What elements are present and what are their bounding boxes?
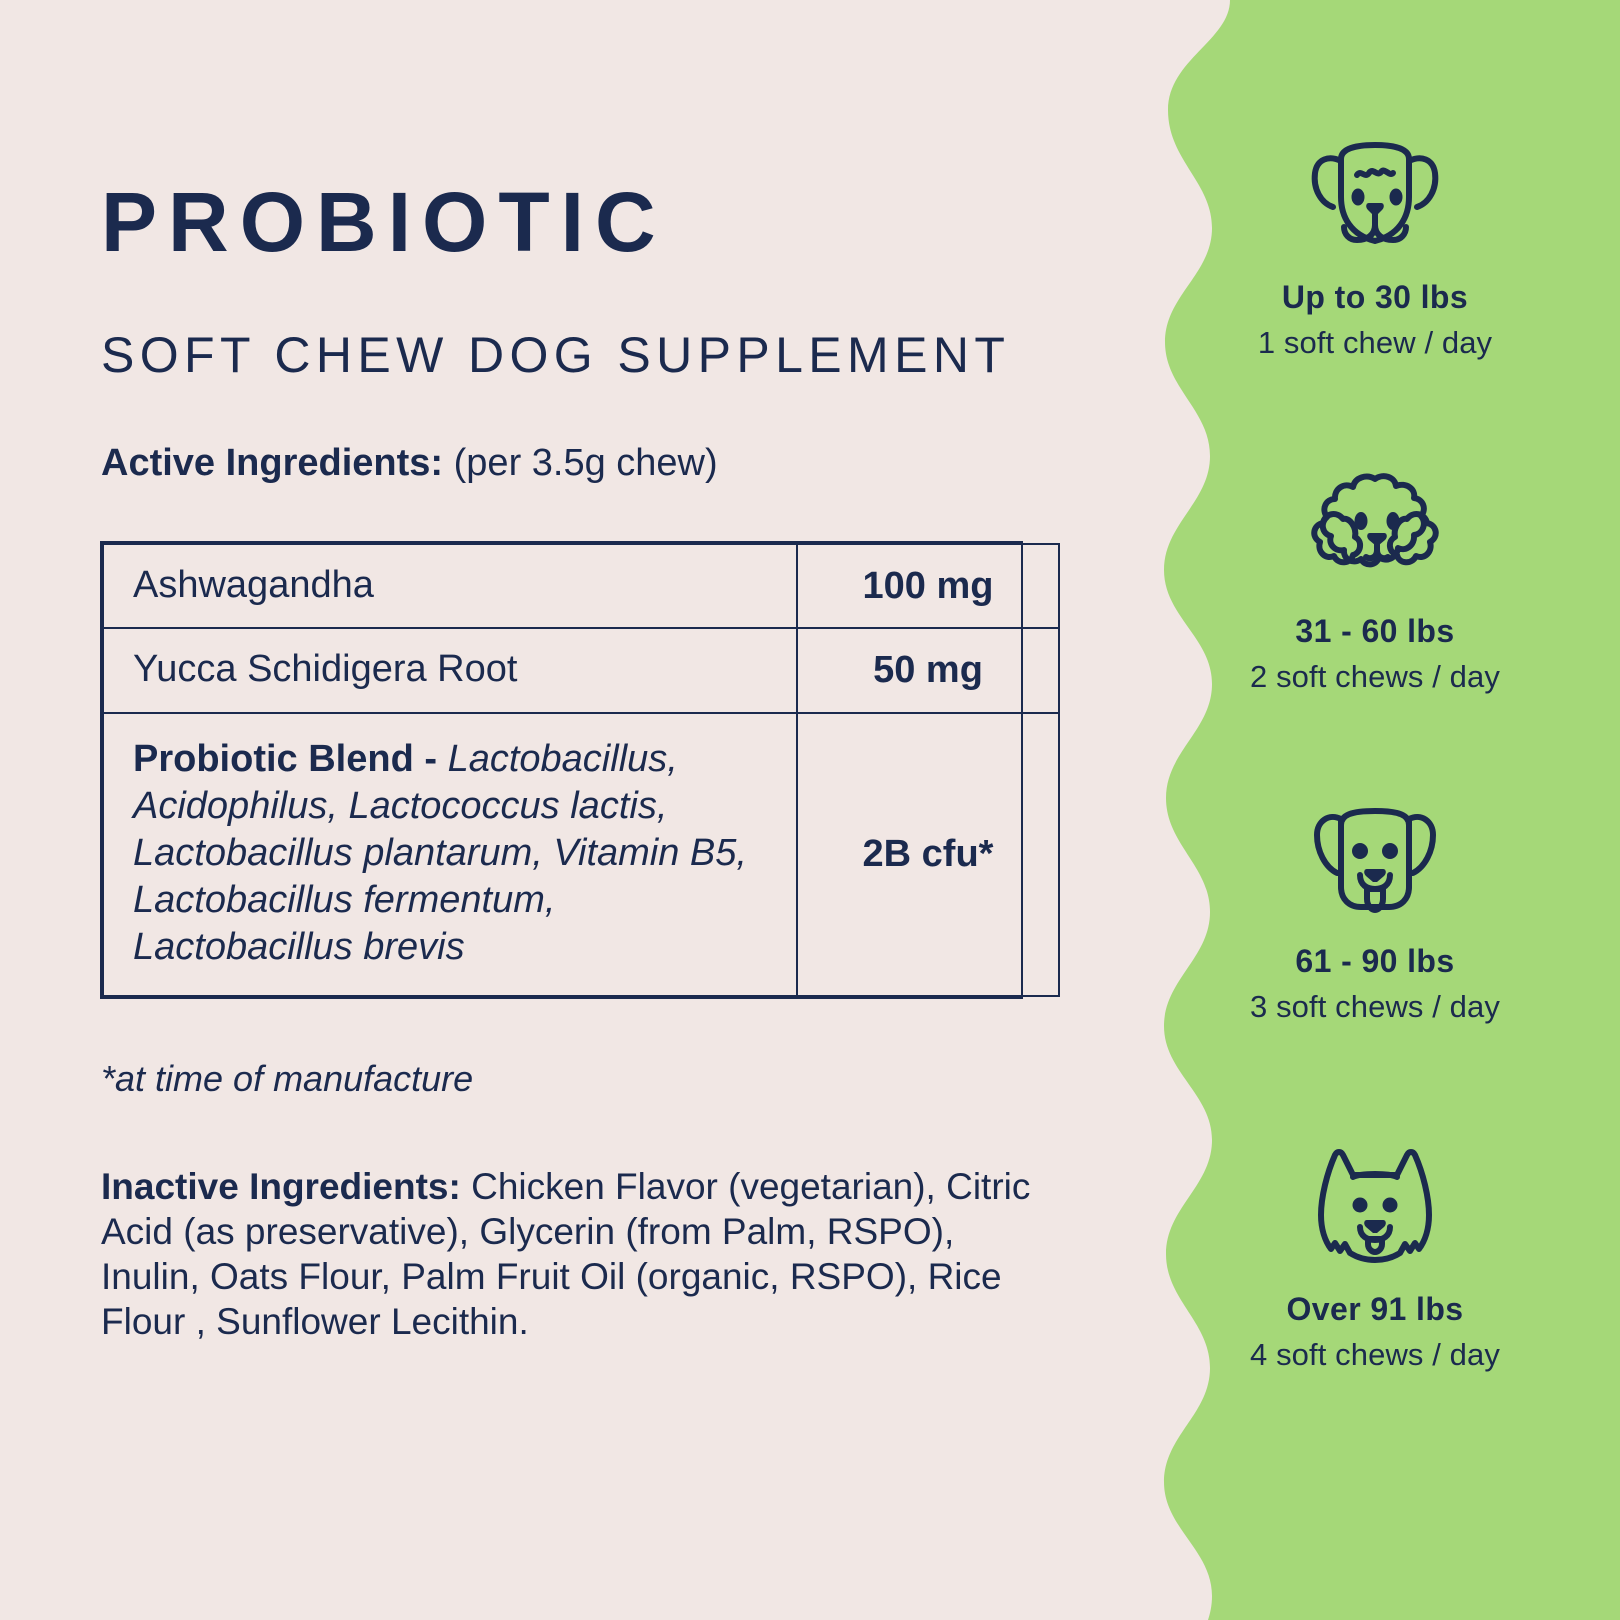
ingredients-panel: PROBIOTIC SOFT CHEW DOG SUPPLEMENT Activ… — [0, 0, 1140, 1620]
probiotic-blend-separator: - — [414, 738, 448, 780]
dosage-amount: 3 soft chews / day — [1175, 990, 1575, 1024]
dosage-amount: 2 soft chews / day — [1175, 660, 1575, 694]
dosage-item-61-90: 61 - 90 lbs 3 soft chews / day — [1175, 800, 1575, 1024]
dosage-weight: 31 - 60 lbs — [1175, 614, 1575, 649]
ingredient-amount: 50 mg — [797, 628, 1059, 712]
dosage-weight: 61 - 90 lbs — [1175, 944, 1575, 979]
ingredient-name: Ashwagandha — [103, 544, 797, 628]
ingredient-name: Yucca Schidigera Root — [103, 628, 797, 712]
labrador-dog-face-icon — [1175, 800, 1575, 918]
ingredient-amount: 100 mg — [797, 544, 1059, 628]
supplement-label: PROBIOTIC SOFT CHEW DOG SUPPLEMENT Activ… — [0, 0, 1620, 1620]
probiotic-blend-label: Probiotic Blend — [133, 738, 414, 780]
dosage-amount: 1 soft chew / day — [1175, 326, 1575, 360]
poodle-dog-face-icon — [1175, 470, 1575, 588]
ingredient-name: Probiotic Blend - Lactobacillus, Acidoph… — [103, 713, 797, 997]
active-ingredients-table: Ashwagandha 100 mg Yucca Schidigera Root… — [100, 541, 1023, 999]
dosage-weight: Up to 30 lbs — [1175, 280, 1575, 315]
page-title: PROBIOTIC — [101, 180, 667, 264]
table-row: Ashwagandha 100 mg — [103, 544, 1059, 628]
dosage-item-over-91: Over 91 lbs 4 soft chews / day — [1175, 1148, 1575, 1372]
manufacture-footnote: *at time of manufacture — [101, 1058, 473, 1100]
serving-size-note: (per 3.5g chew) — [454, 442, 718, 484]
ingredient-amount: 2B cfu* — [797, 713, 1059, 997]
inactive-ingredients-label: Inactive Ingredients: — [101, 1166, 461, 1207]
dosage-item-31-60: 31 - 60 lbs 2 soft chews / day — [1175, 470, 1575, 694]
dosage-weight: Over 91 lbs — [1175, 1292, 1575, 1327]
table-row: Probiotic Blend - Lactobacillus, Acidoph… — [103, 713, 1059, 997]
spitz-dog-face-icon — [1175, 1148, 1575, 1266]
inactive-ingredients: Inactive Ingredients: Chicken Flavor (ve… — [101, 1164, 1056, 1345]
table-row: Yucca Schidigera Root 50 mg — [103, 628, 1059, 712]
dosage-amount: 4 soft chews / day — [1175, 1338, 1575, 1372]
dosage-item-up-to-30: Up to 30 lbs 1 soft chew / day — [1175, 136, 1575, 360]
active-ingredients-heading: Active Ingredients: (per 3.5g chew) — [101, 443, 718, 485]
page-subtitle: SOFT CHEW DOG SUPPLEMENT — [101, 330, 1010, 380]
active-ingredients-label: Active Ingredients: — [101, 442, 443, 484]
pug-dog-face-icon — [1175, 136, 1575, 254]
